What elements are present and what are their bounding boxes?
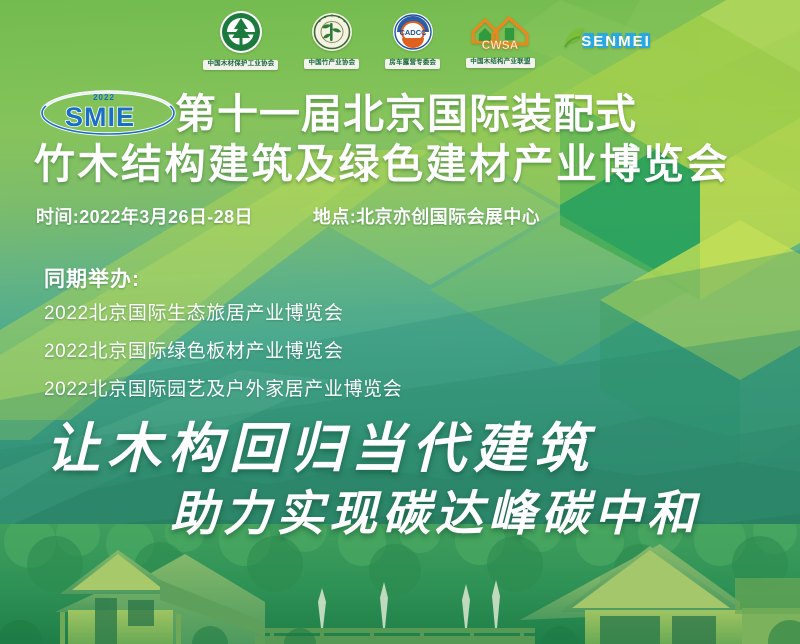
cwsa-house-emblem-icon: CWSA xyxy=(469,12,531,57)
logo-cadcc-rv-camping[interactable]: CADCC 房车露营专委会 xyxy=(385,11,440,69)
svg-text:SMIE: SMIE xyxy=(65,102,135,132)
senmei-leaf-wordmark-icon: SENMEI xyxy=(561,21,657,60)
logo-bamboo-association[interactable]: 中国竹产业协会 xyxy=(304,11,359,69)
list-item: 2022北京国际生态旅居产业博览会 xyxy=(44,303,402,325)
headline-line-2: 竹木结构建筑及绿色建材产业博览会 xyxy=(34,141,730,187)
wooden-cabin-forest-photo xyxy=(0,524,800,644)
slogan-line-1: 让木构回归当代建筑 xyxy=(46,418,595,478)
slogan-line-2: 助力实现碳达峰碳中和 xyxy=(170,487,700,541)
exhibition-poster: 中国木材保护工业协会 xyxy=(0,0,800,644)
pine-tree-circle-emblem-icon xyxy=(219,10,263,59)
list-item: 2022北京国际绿色板材产业博览会 xyxy=(44,341,402,363)
headline-line-1: 第十一届北京国际装配式 xyxy=(175,92,637,137)
sponsor-logo-strip: 中国木材保护工业协会 xyxy=(0,0,800,80)
concurrent-events-list: 2022北京国际生态旅居产业博览会 2022北京国际绿色板材产业博览会 2022… xyxy=(44,303,402,401)
logo-senmei[interactable]: SENMEI xyxy=(561,21,657,60)
list-item: 2022北京国际园艺及户外家居产业博览会 xyxy=(44,379,402,401)
cadcc-oval-emblem-icon: CADCC xyxy=(392,11,434,58)
logo-caption: 房车露营专委会 xyxy=(385,59,440,69)
bamboo-oval-emblem-icon xyxy=(311,11,353,58)
logo-china-timber-association[interactable]: 中国木材保护工业协会 xyxy=(203,10,278,70)
logo-caption: 中国木材保护工业协会 xyxy=(203,60,278,70)
logo-cwsa-wood-structure[interactable]: CWSA 中国木结构产业联盟 xyxy=(466,12,534,68)
svg-text:CADCC: CADCC xyxy=(399,28,427,37)
smie-logo: 2022 SMIE xyxy=(38,88,178,138)
svg-text:2022: 2022 xyxy=(93,93,115,102)
logo-caption: 中国竹产业协会 xyxy=(304,59,359,69)
event-meta: 时间:2022年3月26日-28日 地点:北京亦创国际会展中心 xyxy=(36,205,540,229)
logo-caption: 中国木结构产业联盟 xyxy=(466,58,534,68)
concurrent-events-heading: 同期举办: xyxy=(44,267,140,293)
svg-text:CWSA: CWSA xyxy=(482,38,519,52)
svg-text:SENMEI: SENMEI xyxy=(581,33,651,50)
event-venue: 地点:北京亦创国际会展中心 xyxy=(313,205,540,229)
event-date: 时间:2022年3月26日-28日 xyxy=(36,205,253,229)
